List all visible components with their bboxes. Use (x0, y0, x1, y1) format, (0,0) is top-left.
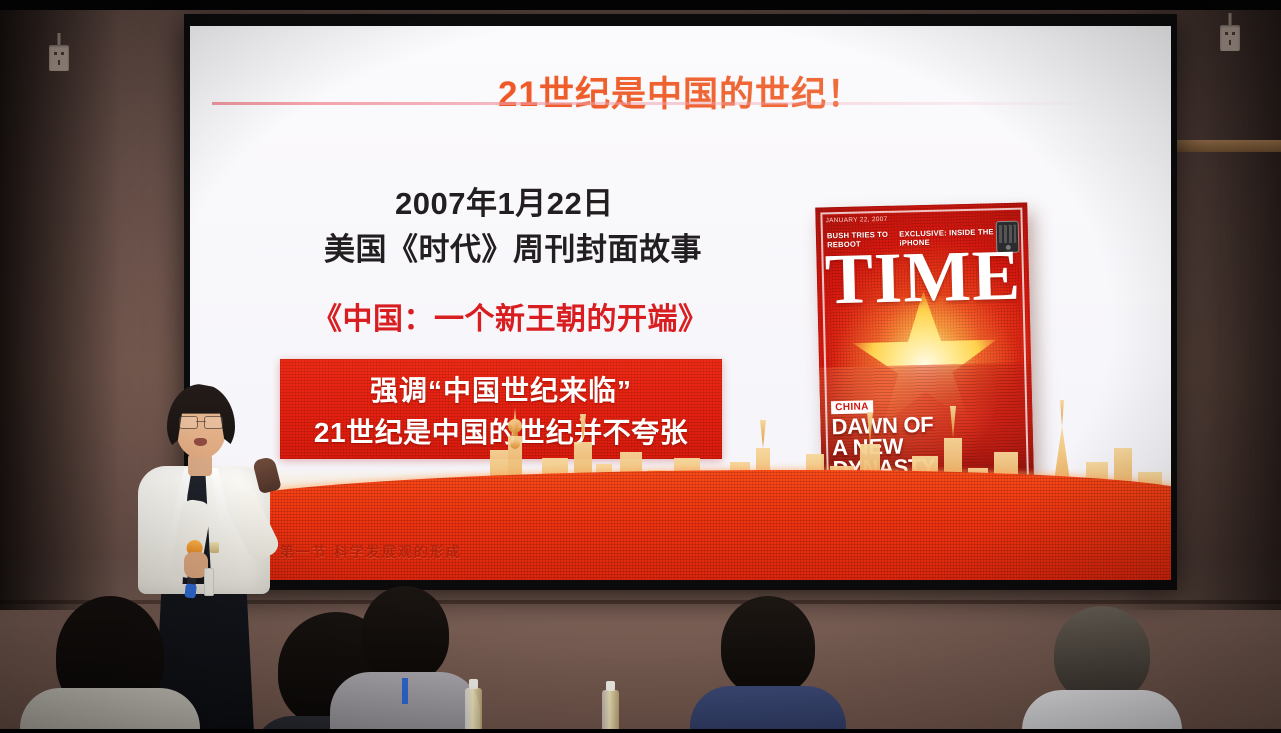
presenter-id-card (204, 568, 214, 596)
audience-head (1054, 606, 1150, 702)
list-item (690, 596, 846, 733)
slide-text-source: 美国《时代》周刊封面故事 (324, 224, 702, 269)
water-bottle (465, 688, 482, 733)
list-item (20, 592, 200, 733)
list-item (330, 586, 480, 733)
presenter-badge (210, 542, 219, 553)
wall-outlet-icon (49, 45, 69, 71)
slide-text-headline: 《中国：一个新王朝的开端》 (312, 294, 709, 338)
list-item (1022, 606, 1182, 733)
magazine-masthead: TIME (816, 238, 1030, 315)
wall-outlet-icon (1220, 25, 1240, 51)
audience-lanyard (402, 678, 408, 704)
water-bottle (602, 690, 619, 733)
screenshot-stage: 21世纪是中国的世纪！ 2007年1月22日 美国《时代》周刊封面故事 《中国：… (0, 0, 1281, 733)
wall-shadow-left (0, 10, 120, 610)
slide-title: 21世纪是中国的世纪！ (190, 66, 1171, 117)
audience-head (361, 586, 449, 682)
audience-body (690, 686, 846, 733)
audience-body (1022, 690, 1182, 733)
audience-head (721, 596, 815, 696)
presenter-mouth (194, 438, 207, 446)
glasses-icon (179, 416, 223, 427)
title-divider (212, 102, 1142, 105)
red-wave-front (190, 470, 1171, 580)
presentation-slide: 21世纪是中国的世纪！ 2007年1月22日 美国《时代》周刊封面故事 《中国：… (190, 26, 1171, 580)
audience-body (20, 688, 200, 733)
slide-text-date: 2007年1月22日 (395, 178, 614, 223)
bottom-letterbox (0, 729, 1281, 733)
